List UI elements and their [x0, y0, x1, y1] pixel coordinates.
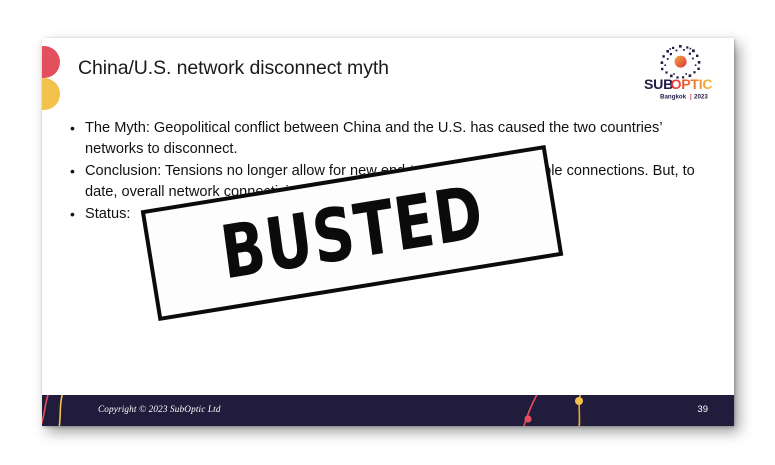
bullet-marker-icon: •: [70, 118, 85, 139]
busted-stamp-label: BUSTED: [217, 176, 488, 291]
bullet-text: The Myth: Geopolitical conflict between …: [85, 118, 710, 159]
screenshot-canvas: China/U.S. network disconnect myth: [0, 0, 775, 465]
logo-core-circle: [675, 56, 687, 68]
decorative-dots-group: [42, 46, 68, 112]
red-circle-icon: [42, 46, 60, 78]
yellow-circle-icon: [42, 78, 60, 110]
logo-word-sub: SUB: [644, 77, 673, 93]
page-number: 39: [697, 404, 708, 415]
logo-city: Bangkok: [660, 94, 687, 101]
logo-word-optic: OPTIC: [671, 77, 713, 93]
copyright-text: Copyright © 2023 SubOptic Ltd: [98, 404, 221, 414]
slide-title: China/U.S. network disconnect myth: [78, 55, 389, 81]
bullet-marker-icon: •: [70, 161, 85, 182]
bullet-marker-icon: •: [70, 204, 85, 225]
suboptic-logo: SUB OPTIC Bangkok | 2023: [642, 40, 720, 102]
presentation-slide: China/U.S. network disconnect myth: [42, 38, 734, 426]
logo-separator: |: [690, 94, 692, 101]
slide-footer: Copyright © 2023 SubOptic Ltd 39: [42, 395, 734, 426]
logo-year: 2023: [694, 94, 708, 101]
bullet-item: • The Myth: Geopolitical conflict betwee…: [70, 118, 710, 159]
